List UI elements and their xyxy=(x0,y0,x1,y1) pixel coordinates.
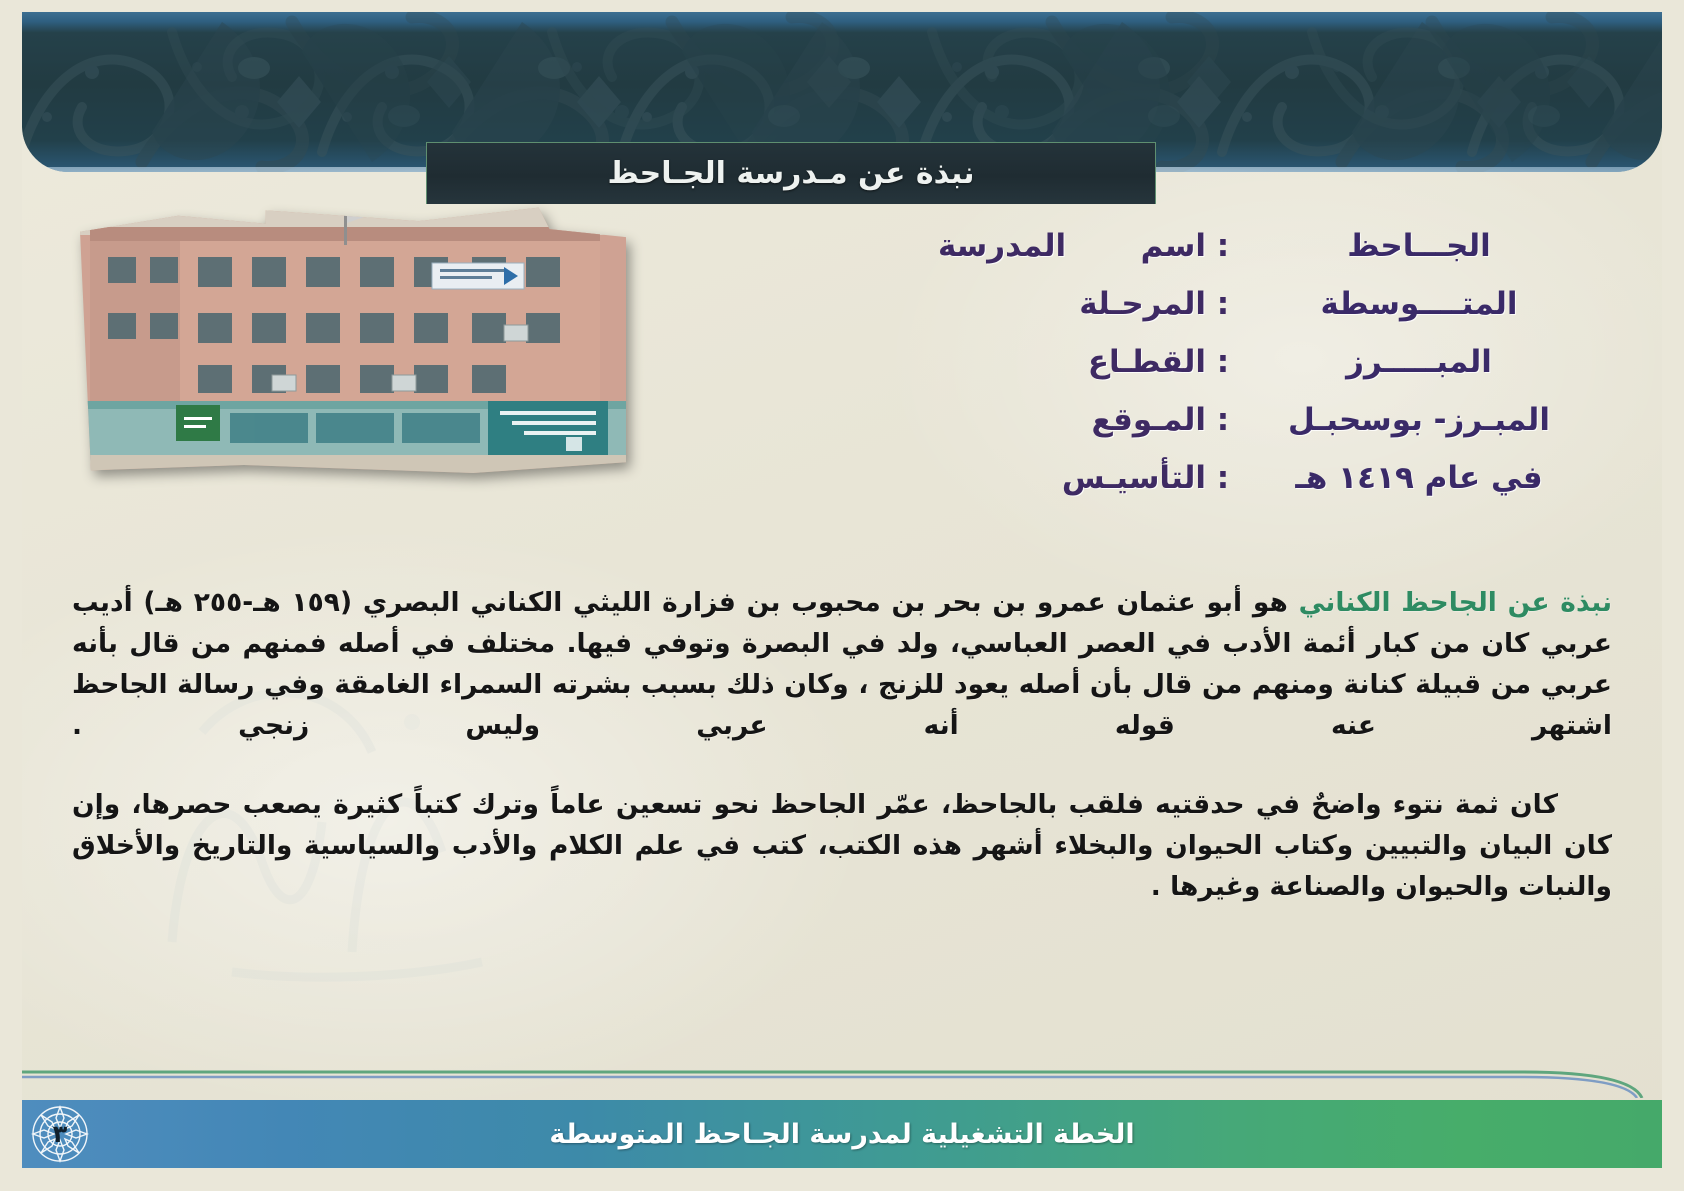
footer-bar: الخطة التشغيلية لمدرسة الجـاحظ المتوسطة xyxy=(22,1100,1662,1168)
school-building-illustration-icon xyxy=(80,205,626,473)
page-title: نبذة عن مـدرسة الجـاحظ xyxy=(608,156,975,191)
info-value-stage: المتــــوسطة xyxy=(1240,286,1598,322)
body-content: نبذة عن الجاحظ الكناني هو أبو عثمان عمرو… xyxy=(72,582,1612,945)
school-photo xyxy=(80,205,626,473)
school-photo-image xyxy=(80,205,626,473)
info-label-stage: المرحـلة xyxy=(938,286,1206,322)
table-row: المبـــــرز : القطـاع xyxy=(938,344,1598,402)
slide-page: نبذة عن مـدرسة الجـاحظ xyxy=(0,0,1684,1191)
info-colon: : xyxy=(1206,344,1240,380)
page-number: ٣ xyxy=(30,1104,90,1164)
info-label-sector: القطـاع xyxy=(938,344,1206,380)
footer-title: الخطة التشغيلية لمدرسة الجـاحظ المتوسطة xyxy=(22,1100,1662,1168)
info-value-school-name: الجـــاحظ xyxy=(1240,228,1598,264)
table-row: المتــــوسطة : المرحـلة xyxy=(938,286,1598,344)
info-colon: : xyxy=(1206,286,1240,322)
school-info-table: الجـــاحظ : اسم المدرسة المتــــوسطة : ا… xyxy=(938,228,1598,518)
table-row: في عام ١٤١٩ هـ : التأسيـس xyxy=(938,460,1598,518)
info-value-location: المبـرز- بوسحبـل xyxy=(1240,402,1598,438)
paragraph-works: كان ثمة نتوء واضحٌ في حدقتيه فلقب بالجاح… xyxy=(72,784,1612,907)
paragraph-biography: نبذة عن الجاحظ الكناني هو أبو عثمان عمرو… xyxy=(72,582,1612,746)
info-label-founded: التأسيـس xyxy=(938,460,1206,496)
info-label-school-name: اسم المدرسة xyxy=(938,228,1206,264)
info-colon: : xyxy=(1206,402,1240,438)
info-value-founded: في عام ١٤١٩ هـ xyxy=(1240,460,1598,496)
info-colon: : xyxy=(1206,228,1240,264)
info-label-location: المـوقع xyxy=(938,402,1206,438)
paragraph-lead-phrase: نبذة عن الجاحظ الكناني xyxy=(1299,587,1612,618)
table-row: المبـرز- بوسحبـل : المـوقع xyxy=(938,402,1598,460)
info-value-sector: المبـــــرز xyxy=(1240,344,1598,380)
slide-title-plaque: نبذة عن مـدرسة الجـاحظ xyxy=(426,142,1156,204)
table-row: الجـــاحظ : اسم المدرسة xyxy=(938,228,1598,286)
info-colon: : xyxy=(1206,460,1240,496)
footer-separator-curve xyxy=(22,1068,1662,1098)
